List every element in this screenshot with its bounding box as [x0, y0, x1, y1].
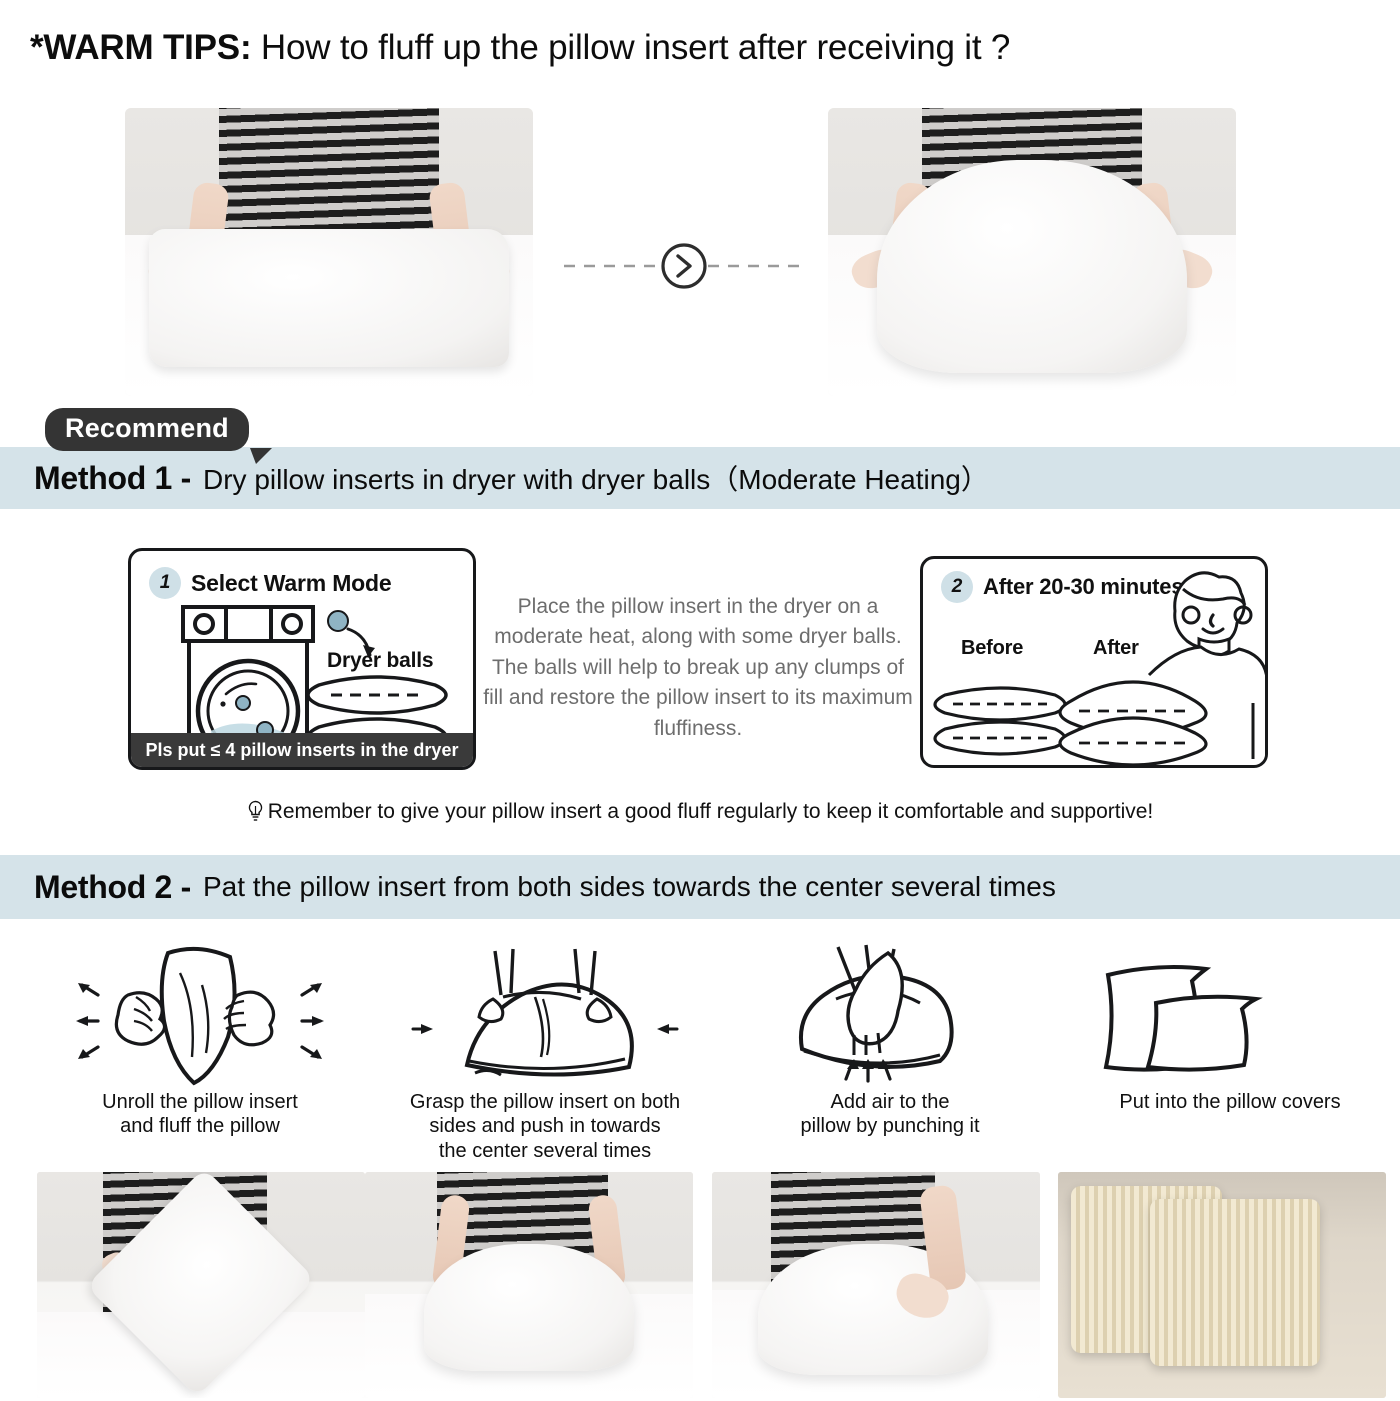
chevron-right-circle-icon: [560, 236, 808, 296]
dryer-capacity-note: Pls put ≤ 4 pillow inserts in the dryer: [131, 733, 473, 767]
method-2-step-2: Grasp the pillow insert on both sides an…: [370, 940, 720, 1163]
step-2-caption: Grasp the pillow insert on both sides an…: [370, 1090, 720, 1163]
photo-before-fluff: [125, 108, 533, 396]
photo-pillow-covers: [1058, 1172, 1386, 1398]
step-1-caption: Unroll the pillow insert and fluff the p…: [25, 1090, 375, 1139]
dryer-balls-label: Dryer balls: [327, 649, 433, 673]
lightbulb-icon: [247, 800, 264, 822]
method-1-step-1-card: 1 Select Warm Mode: [128, 548, 476, 770]
page-title-rest: How to fluff up the pillow insert after …: [251, 28, 1010, 67]
photo-scene: [712, 1172, 1040, 1398]
step-3-caption: Add air to the pillow by punching it: [715, 1090, 1065, 1139]
cream-pillow-cover-front: [1150, 1199, 1321, 1366]
recommend-badge: Recommend: [45, 408, 249, 451]
method-2-subtitle: Pat the pillow insert from both sides to…: [203, 871, 1056, 903]
flat-pillow-insert: [149, 229, 508, 367]
method-1-header: Method 1 - Dry pillow inserts in dryer w…: [0, 447, 1400, 509]
method-1-step-2-card: 2 After 20-30 minutes Before After: [920, 556, 1268, 768]
method-1-description: Place the pillow insert in the dryer on …: [480, 592, 916, 744]
infographic-page: *WARM TIPS: How to fluff up the pillow i…: [0, 0, 1400, 1401]
photo-scene: [828, 108, 1236, 396]
pillow-punch-icon: [740, 943, 1040, 1088]
step-art: [370, 940, 720, 1090]
step-4-caption: Put into the pillow covers: [1055, 1090, 1400, 1114]
photo-scene: [125, 108, 533, 396]
pillow-squeeze-icon: [395, 943, 695, 1088]
method-2-step-3: Add air to the pillow by punching it: [715, 940, 1065, 1139]
method-2-step-1: Unroll the pillow insert and fluff the p…: [25, 940, 375, 1139]
step-art: [25, 940, 375, 1090]
photo-scene: [37, 1172, 365, 1398]
method-2-header: Method 2 - Pat the pillow insert from bo…: [0, 855, 1400, 919]
page-title: *WARM TIPS: How to fluff up the pillow i…: [30, 28, 1010, 68]
method-2-title: Method 2 -: [34, 869, 191, 906]
fluffy-pillow-insert: [877, 160, 1187, 373]
squeezed-pillow-insert: [424, 1244, 634, 1371]
fluff-reminder-text: Remember to give your pillow insert a go…: [268, 800, 1154, 823]
photo-scene: [365, 1172, 693, 1398]
pillow-unroll-icon: [50, 943, 350, 1088]
step-1-label: Select Warm Mode: [191, 570, 391, 597]
method-2-step-4: Put into the pillow covers: [1055, 940, 1400, 1114]
pillow-covers-icon: [1080, 943, 1380, 1088]
step-art: [1055, 940, 1400, 1090]
step-art: [715, 940, 1065, 1090]
photo-squeeze-pillow: [365, 1172, 693, 1398]
photo-after-fluff: [828, 108, 1236, 396]
page-title-prefix: *WARM TIPS:: [30, 28, 251, 67]
fluff-reminder: Remember to give your pillow insert a go…: [0, 800, 1400, 824]
photo-punch-pillow: [712, 1172, 1040, 1398]
transition-arrow: [560, 236, 808, 296]
method-1-subtitle: Dry pillow inserts in dryer with dryer b…: [203, 458, 989, 498]
method-1-title: Method 1 -: [34, 460, 191, 497]
before-after-illustration: [923, 563, 1267, 768]
step-number-badge: 1: [149, 567, 181, 599]
photo-unroll-pillow: [37, 1172, 365, 1398]
sofa-scene: [1058, 1172, 1386, 1398]
